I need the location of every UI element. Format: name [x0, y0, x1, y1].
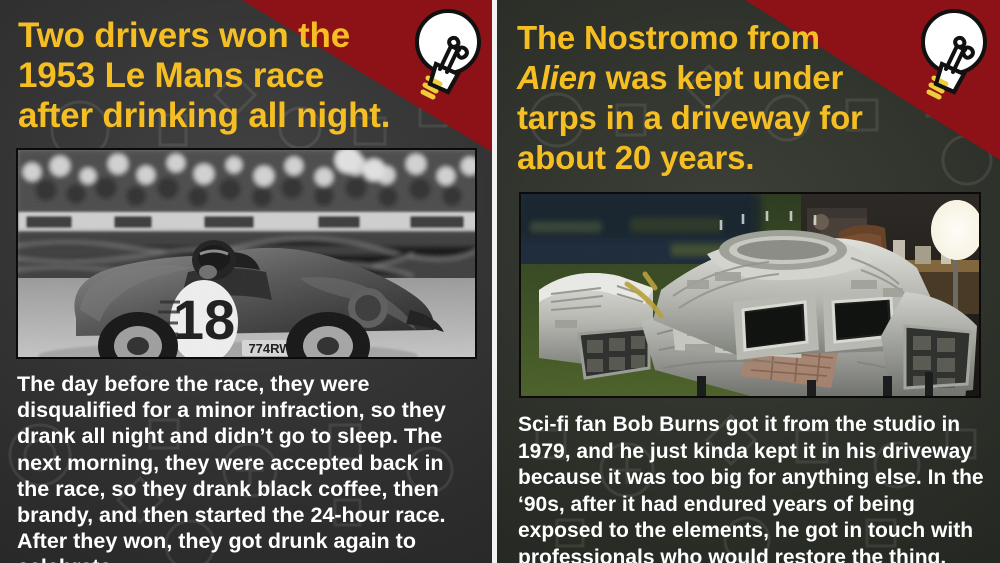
nostromo-model-photo: [521, 194, 981, 398]
headline-italic-title: Alien: [517, 59, 597, 96]
headline-line-1: Two drivers won the: [18, 16, 440, 56]
card-body-text: Sci-fi fan Bob Burns got it from the stu…: [497, 398, 1000, 563]
headline-line-4: about 20 years.: [517, 138, 917, 178]
card-headline: The Nostromo from Alien was kept under t…: [497, 0, 917, 178]
fact-card-le-mans: Two drivers won the 1953 Le Mans race af…: [0, 0, 492, 563]
headline-line-1: The Nostromo from: [517, 18, 917, 58]
lightbulb-icon: [906, 6, 992, 102]
headline-line-3: after drinking all night.: [18, 96, 440, 136]
headline-line-2: 1953 Le Mans race: [18, 56, 440, 96]
card-photo: 18 774RW: [16, 148, 477, 359]
two-fact-cards: Two drivers won the 1953 Le Mans race af…: [0, 0, 1000, 563]
fact-card-nostromo: The Nostromo from Alien was kept under t…: [497, 0, 1000, 563]
card-headline: Two drivers won the 1953 Le Mans race af…: [0, 0, 440, 136]
lightbulb-icon: [400, 6, 486, 102]
card-body-text: The day before the race, they were disqu…: [0, 359, 492, 563]
card-photo: [519, 192, 981, 398]
headline-line-3: tarps in a driveway for: [517, 98, 917, 138]
vintage-le-mans-race-photo: 18 774RW: [18, 150, 477, 359]
headline-line-2: Alien was kept under: [517, 58, 917, 98]
headline-line-2-rest: was kept under: [597, 59, 843, 96]
